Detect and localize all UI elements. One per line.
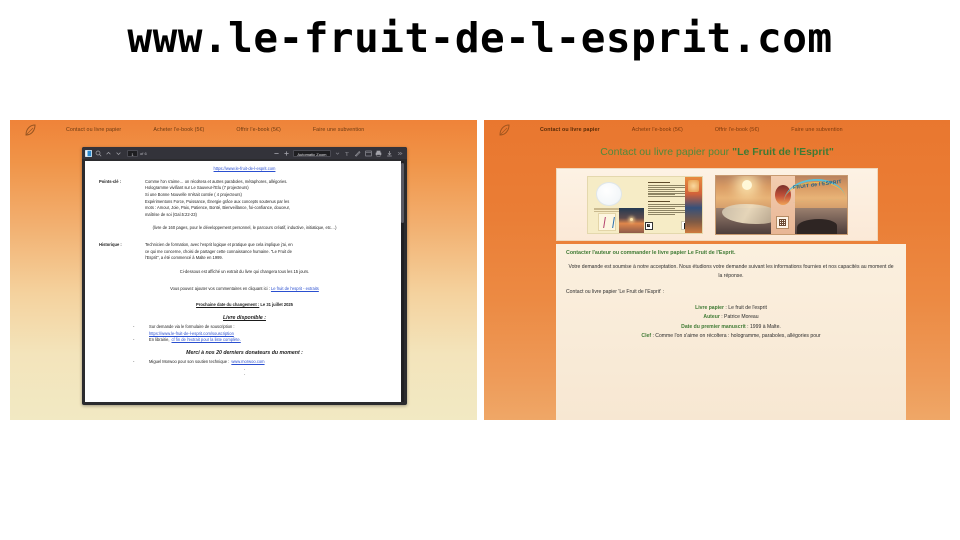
zoom-out-icon[interactable]: [273, 150, 280, 157]
book-detail-row: Livre papier : Le fruit de l'esprit: [566, 304, 896, 313]
pdf-page-indicator: 1 of 6: [127, 150, 147, 157]
doc-availability-item: - En librairie, cf fin de l'extrait pour…: [133, 337, 390, 344]
pdf-toolbar-right-tools: T: [344, 150, 405, 157]
nav-link-buy-ebook[interactable]: Acheter l'e-book (5€): [616, 127, 699, 133]
pdf-page-canvas[interactable]: https://www.le-fruit-de-l-esprit.com Poi…: [85, 161, 404, 402]
detail-key: Livre papier: [695, 305, 724, 311]
pdf-scrollbar[interactable]: [401, 161, 404, 402]
download-icon[interactable]: [386, 150, 393, 157]
doc-line: maîtrise de soi (Gal.5:22-23): [145, 212, 390, 219]
heading-prefix: Contact ou livre papier pour: [600, 146, 732, 158]
page-total-label: of 6: [140, 151, 147, 156]
book-spine-graphic: [685, 177, 702, 233]
doc-availability-link[interactable]: https://www.le-fruit-de-l-esprit.com/sou…: [149, 331, 234, 338]
doc-comment-line: Vous pouvez ajouter vos commentaires en …: [99, 286, 390, 293]
right-page-heading: Contact ou livre papier pour "Le Fruit d…: [484, 146, 950, 158]
front-cover-qr-code: [776, 216, 789, 229]
screenshot-root: www.le-fruit-de-l-esprit.com Contact ou …: [0, 0, 960, 540]
right-screenshot-panel: Contact ou livre papier Acheter l'e-book…: [484, 120, 950, 420]
nav-link-gift-ebook[interactable]: Offrir l'e-book (5€): [699, 127, 775, 133]
pdf-scrollbar-thumb[interactable]: [401, 163, 404, 223]
doc-section-label: Historique :: [99, 242, 145, 262]
contact-green-line: Contacter l'auteur ou commander le livre…: [566, 250, 896, 256]
doc-date-value: Le 31 juillet 2025: [260, 302, 293, 307]
search-icon[interactable]: [95, 150, 102, 157]
pdf-viewer: 1 of 6 Automatic Zoom T: [82, 147, 407, 405]
detail-key: Clef: [641, 333, 651, 339]
doc-line: mots : Amour, Joie, Paix, Patience, Bont…: [145, 205, 390, 212]
nav-link-contact[interactable]: Contact ou livre papier: [524, 127, 616, 133]
doc-line: ce qui me concerne, choisi de partager c…: [145, 249, 390, 256]
right-site-nav: Contact ou livre papier Acheter l'e-book…: [484, 120, 950, 140]
bullet-dash: -: [133, 324, 149, 331]
nav-link-subvention[interactable]: Faire une subvention: [775, 127, 858, 133]
doc-availability-heading: Livre disponible :: [99, 314, 390, 322]
doc-comment-link[interactable]: Le fruit de l'esprit - extraits: [271, 286, 319, 291]
doc-notice: Ci-dessous est affiché un extrait du liv…: [99, 269, 390, 276]
book-detail-row: Date du premier manuscrit : 1999 à Malte…: [566, 323, 896, 332]
doc-date-label: Prochaine date du changement :: [196, 302, 259, 307]
doc-donor-link[interactable]: www.morwoo.com: [231, 359, 264, 366]
zoom-in-icon[interactable]: [283, 150, 290, 157]
doc-line: Si une Bonne Nouvelle m'était contée ( 4…: [145, 192, 390, 199]
doc-availability-link-row: https://www.le-fruit-de-l-esprit.com/sou…: [133, 331, 390, 338]
pencil-draw-icon[interactable]: [354, 150, 361, 157]
doc-section-body: Comme l'on s'aime… on récoltera et autre…: [145, 179, 390, 219]
detail-value: : Le fruit de l'esprit: [724, 305, 767, 311]
bullet-dash: -: [133, 359, 149, 366]
page-view-icon[interactable]: [365, 150, 372, 157]
page-title: www.le-fruit-de-l-esprit.com: [0, 14, 960, 62]
zoom-select[interactable]: Automatic Zoom: [293, 150, 330, 157]
doc-line: Expérimentons Force, Puissance, Énergie …: [145, 199, 390, 206]
double-chevron-icon[interactable]: [396, 150, 403, 157]
book-logo-icon: [598, 213, 616, 231]
back-cover-photo: [619, 208, 644, 233]
nav-link-buy-ebook[interactable]: Acheter l'e-book (5€): [137, 127, 220, 133]
contact-lead-line: Contact ou livre papier 'Le Fruit de l'E…: [566, 289, 896, 295]
doc-ellipsis: -: [99, 371, 390, 376]
doc-comment-prefix: Vous pouvez ajouter vos commentaires en …: [170, 286, 270, 291]
doc-availability-item: - Sur demande via le formulaire de sousc…: [133, 324, 390, 331]
detail-key: Date du premier manuscrit: [681, 324, 746, 330]
back-cover-qr-code: [645, 222, 653, 230]
contact-text-card: Contacter l'auteur ou commander le livre…: [556, 244, 906, 420]
doc-section-body: Technicien de formation, avec l'esprit l…: [145, 242, 390, 262]
bullet-dash: -: [133, 337, 149, 344]
hologram-circle-graphic: [596, 182, 622, 206]
detail-value: : Patrice Moreau: [720, 314, 759, 320]
book-front-cover-image[interactable]: FRUIT de l'ESPRIT: [715, 175, 848, 235]
detail-key: Auteur: [703, 314, 719, 320]
doc-section-points-cle: Points-clé : Comme l'on s'aime… on récol…: [99, 179, 390, 219]
chevron-up-icon[interactable]: [105, 150, 112, 157]
chevron-down-icon[interactable]: [115, 150, 122, 157]
book-back-cover-image[interactable]: [587, 176, 703, 234]
heading-strong: "Le Fruit de l'Esprit": [732, 146, 834, 158]
book-covers-card: FRUIT de l'ESPRIT: [556, 168, 878, 241]
left-site-nav: Contact ou livre papier Acheter l'e-book…: [10, 120, 477, 140]
doc-donor-item: - Miguel Morwoo pour son soutien techniq…: [133, 359, 390, 366]
nav-link-subvention[interactable]: Faire une subvention: [297, 127, 380, 133]
doc-availability-link[interactable]: cf fin de l'extrait pour la liste complè…: [171, 337, 240, 344]
front-cover-side-band: [771, 176, 795, 234]
doc-top-url[interactable]: https://www.le-fruit-de-l-esprit.com: [99, 166, 390, 173]
doc-section-label: Points-clé :: [99, 179, 145, 219]
doc-section-historique: Historique : Technicien de formation, av…: [99, 242, 390, 262]
doc-donor-text: Miguel Morwoo pour son soutien technique…: [149, 359, 229, 366]
leaf-logo-icon[interactable]: [20, 123, 42, 137]
left-nav-links: Contact ou livre papier Acheter l'e-book…: [50, 127, 380, 133]
nav-link-contact[interactable]: Contact ou livre papier: [50, 127, 137, 133]
doc-points-note: (livre de 160 pages, pour le développeme…: [99, 225, 390, 232]
sidebar-toggle-icon[interactable]: [85, 150, 92, 157]
front-cover-rock: [797, 219, 837, 234]
doc-availability-text: En librairie,: [149, 337, 169, 344]
doc-date-line: Prochaine date du changement : Le 31 jui…: [99, 302, 390, 309]
pdf-document-text: https://www.le-fruit-de-l-esprit.com Poi…: [85, 161, 404, 376]
sun-glow-graphic: [742, 180, 752, 190]
bullet-spacer: [133, 331, 149, 338]
left-screenshot-panel: Contact ou livre papier Acheter l'e-book…: [10, 120, 477, 420]
nav-link-gift-ebook[interactable]: Offrir l'e-book (5€): [220, 127, 296, 133]
doc-availability-text: Sur demande via le formulaire de souscri…: [149, 324, 235, 331]
page-number-input[interactable]: 1: [127, 150, 138, 157]
detail-value: : 1999 à Malte.: [746, 324, 781, 330]
doc-line: l'Esprit", a été commencé à Malte en 199…: [145, 255, 390, 262]
doc-line: Comme l'on s'aime… on récoltera et autre…: [145, 179, 390, 186]
zoom-caret-chevron-down-icon[interactable]: [334, 150, 341, 157]
right-nav-links: Contact ou livre papier Acheter l'e-book…: [524, 127, 859, 133]
pdf-toolbar: 1 of 6 Automatic Zoom T: [82, 147, 407, 159]
book-detail-row: Auteur : Patrice Moreau: [566, 313, 896, 322]
contact-paragraph: Votre demande est soumise à notre accept…: [566, 263, 896, 281]
leaf-logo-icon[interactable]: [494, 123, 516, 137]
print-icon[interactable]: [375, 150, 382, 157]
svg-text:T: T: [345, 151, 349, 156]
book-details-list: Livre papier : Le fruit de l'esprit Aute…: [566, 304, 896, 342]
text-select-icon[interactable]: T: [344, 150, 351, 157]
doc-line: Technicien de formation, avec l'esprit l…: [145, 242, 390, 249]
detail-value: : Comme l'on s'aime on récoltera : holog…: [651, 333, 821, 339]
doc-donors-heading: Merci à nos 20 derniers donateurs du mom…: [99, 349, 390, 357]
book-detail-row: Clef : Comme l'on s'aime on récoltera : …: [566, 332, 896, 341]
doc-line: Hologramme vivifiant sur Le Sauveur-l'El…: [145, 185, 390, 192]
